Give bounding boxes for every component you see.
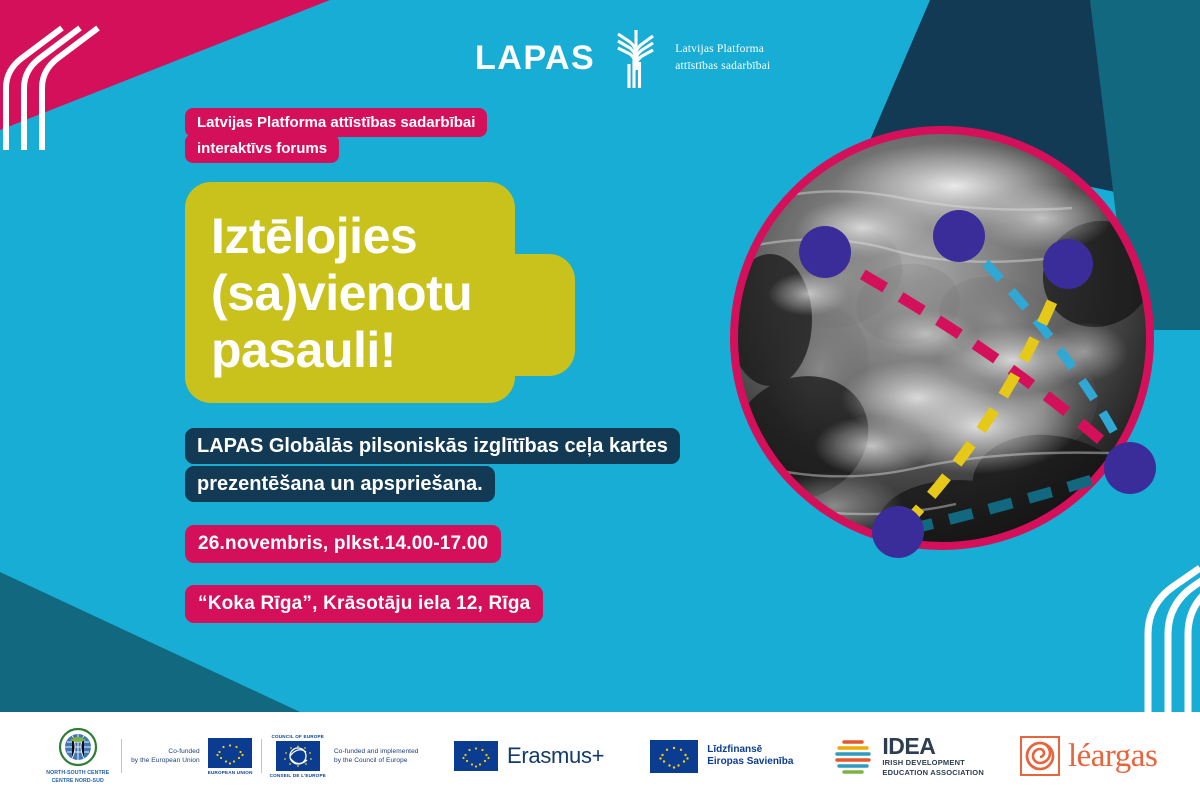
lidzfinanse-line1: Līdzfinansē <box>707 744 793 757</box>
date-wrap: 26.novembris, plkst.14.00-17.00 <box>185 525 745 563</box>
coe-text-line1: Co-funded and implemented <box>334 747 420 756</box>
erasmus-plus-logo: Erasmus+ <box>428 741 630 771</box>
nsc-caption-line2: CENTRE NORD-SUD <box>46 778 109 786</box>
headline-line-3: pasauli! <box>211 322 489 379</box>
leargas-wordmark: léargas <box>1068 740 1157 773</box>
globe-dot <box>799 226 851 278</box>
idea-globe-icon <box>831 734 875 778</box>
globe-dot <box>872 506 924 558</box>
lidzfinanse-line2: Eiropas Savienība <box>707 756 793 769</box>
coe-caption-bottom: CONSEIL DE L'EUROPE <box>270 773 326 778</box>
eu-flag-caption: EUROPEAN UNION <box>208 770 253 775</box>
lapas-tagline: Latvijas Platforma attīstības sadarbībai <box>675 41 770 76</box>
north-south-centre-icon <box>52 727 104 769</box>
poster-canvas: LAPAS Latvijas Platforma attīst <box>0 0 1200 800</box>
idea-sub-line2: EDUCATION ASSOCIATION <box>882 768 984 778</box>
corner-decoration-top-left-lines <box>0 0 200 150</box>
eyebrow-label: Latvijas Platforma attīstības sadarbībai… <box>185 108 487 163</box>
globe-dot <box>1104 442 1156 494</box>
lapas-tagline-line2: attīstības sadarbībai <box>675 58 770 75</box>
headline-block: Iztēlojies (sa)vienotu pasauli! <box>185 182 515 403</box>
lidzfinanse-eu-flag-icon <box>650 740 698 773</box>
eu-flag-icon <box>208 738 252 768</box>
lapas-tagline-line1: Latvijas Platforma <box>675 41 770 58</box>
council-of-europe-flag-icon <box>276 741 320 771</box>
eu-cofunded-line2: by the European Union <box>130 756 200 765</box>
eu-cofunded-line1: Co-funded <box>130 747 200 756</box>
eu-co-funded-logo: Co-funded by the European Union <box>122 738 261 775</box>
content-column: Latvijas Platforma attīstības sadarbībai… <box>185 110 745 623</box>
north-south-centre-logo: NORTH-SOUTH CENTRE CENTRE NORD-SUD <box>35 727 121 785</box>
nsc-caption-line1: NORTH-SOUTH CENTRE <box>46 770 109 778</box>
description-wrap: LAPAS Globālās pilsoniskās izglītības ce… <box>185 427 725 503</box>
erasmus-eu-flag-icon <box>454 741 498 771</box>
venue-label: “Koka Rīga”, Krāsotāju iela 12, Rīga <box>185 585 543 623</box>
globe-dot <box>1043 239 1093 289</box>
erasmus-plus-wordmark: Erasmus+ <box>507 743 604 769</box>
lapas-tree-logo-icon <box>609 28 661 88</box>
venue-wrap: “Koka Rīga”, Krāsotāju iela 12, Rīga <box>185 585 745 623</box>
page-title: Iztēlojies (sa)vienotu pasauli! <box>211 208 489 379</box>
idea-logo: IDEA IRISH DEVELOPMENT EDUCATION ASSOCIA… <box>813 734 1002 778</box>
idea-wordmark: IDEA <box>882 735 984 758</box>
headline-line-2: (sa)vienotu <box>211 265 489 322</box>
eu-lidzfinanse-logo: Līdzfinansē Eiropas Savienība <box>630 740 813 773</box>
footer-logo-bar: NORTH-SOUTH CENTRE CENTRE NORD-SUD Co-fu… <box>0 712 1200 800</box>
coe-caption-top: COUNCIL OF EUROPE <box>272 734 325 739</box>
leargas-logo: léargas <box>1002 736 1175 776</box>
headline-line-1: Iztēlojies <box>211 208 489 265</box>
earth-image <box>712 132 1172 568</box>
description-label: LAPAS Globālās pilsoniskās izglītības ce… <box>185 428 680 502</box>
globe-graphic <box>712 108 1172 568</box>
leargas-spiral-icon <box>1020 736 1060 776</box>
globe-dot <box>933 210 985 262</box>
lapas-wordmark: LAPAS <box>475 41 595 75</box>
council-of-europe-logo: COUNCIL OF EUROPE <box>262 734 428 778</box>
coe-text-line2: by the Council of Europe <box>334 756 420 765</box>
lapas-logo-header: LAPAS Latvijas Platforma attīst <box>475 28 770 88</box>
eyebrow-wrap: Latvijas Platforma attīstības sadarbībai… <box>185 110 515 162</box>
idea-sub-line1: IRISH DEVELOPMENT <box>882 758 984 768</box>
date-time-label: 26.novembris, plkst.14.00-17.00 <box>185 525 501 563</box>
